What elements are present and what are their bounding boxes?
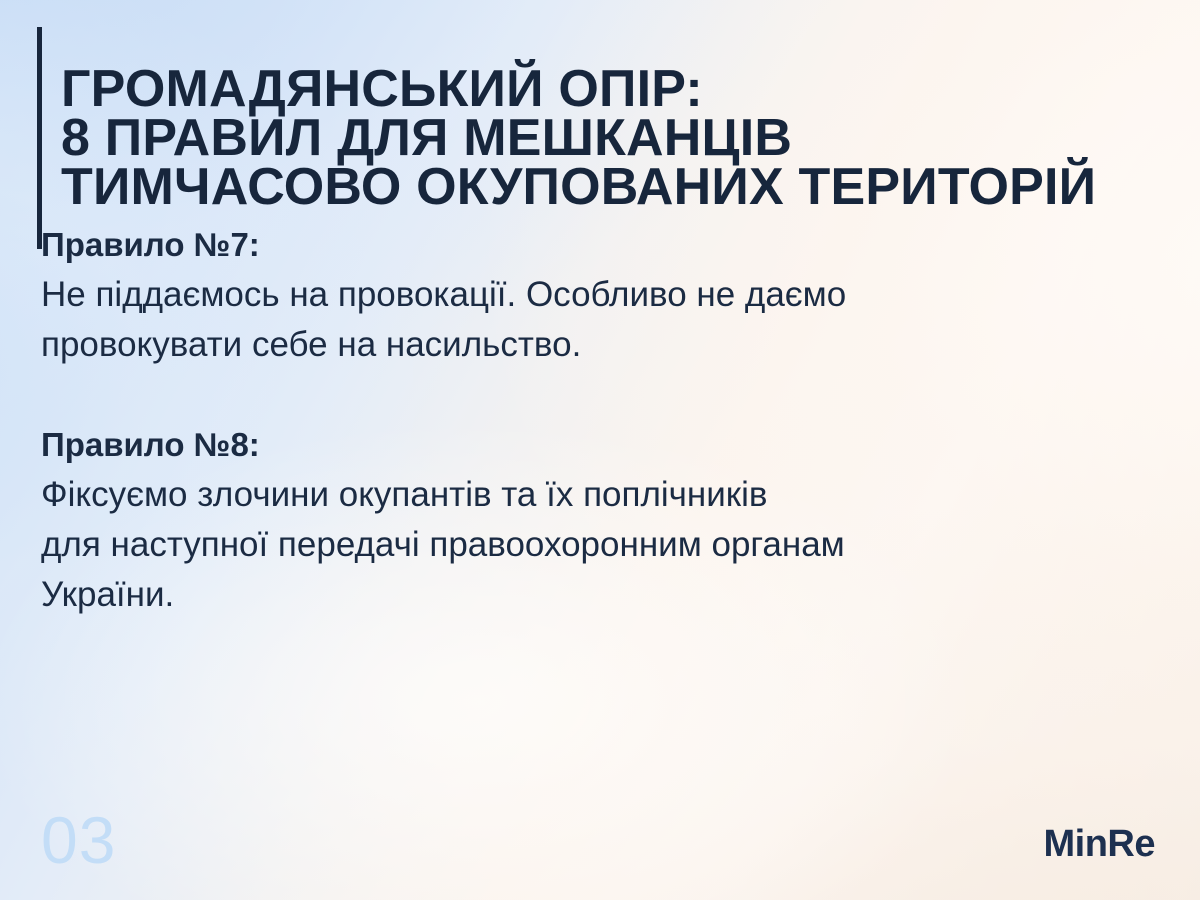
rule-heading-8: Правило №8: <box>41 420 1161 470</box>
rule-item-8: Правило №8: Фіксуємо злочини окупантів т… <box>41 420 1161 620</box>
slide-content: ГРОМАДЯНСЬКИЙ ОПІР: 8 ПРАВИЛ ДЛЯ МЕШКАНЦ… <box>0 0 1200 900</box>
rules-list: Правило №7: Не піддаємось на провокації.… <box>41 220 1161 620</box>
rule-text-8: Фіксуємо злочини окупантів та їх поплічн… <box>41 470 1161 620</box>
brand-logo: MinRe <box>1044 825 1156 863</box>
slide-title-block: ГРОМАДЯНСЬКИЙ ОПІР: 8 ПРАВИЛ ДЛЯ МЕШКАНЦ… <box>37 27 1096 249</box>
rule-text-7: Не піддаємось на провокації. Особливо не… <box>41 270 1161 370</box>
rule-heading-7: Правило №7: <box>41 220 1161 270</box>
page-number: 03 <box>41 807 116 873</box>
page-title: ГРОМАДЯНСЬКИЙ ОПІР: 8 ПРАВИЛ ДЛЯ МЕШКАНЦ… <box>61 62 1096 214</box>
slide-canvas: ГРОМАДЯНСЬКИЙ ОПІР: 8 ПРАВИЛ ДЛЯ МЕШКАНЦ… <box>0 0 1200 900</box>
rule-item-7: Правило №7: Не піддаємось на провокації.… <box>41 220 1161 370</box>
title-accent-bar <box>37 27 42 249</box>
